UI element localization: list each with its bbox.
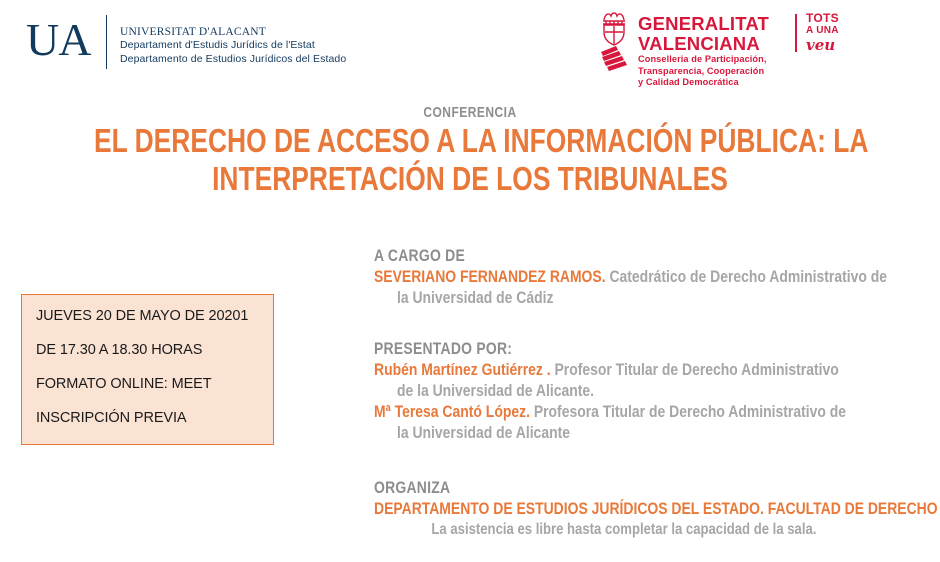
presenter-2-affiliation: la Universidad de Alicante	[374, 422, 930, 443]
page-title-line-2: INTERPRETACIÓN DE LOS TRIBUNALES	[94, 160, 846, 198]
main-speaker-role: Catedrático de Derecho Administrativo de	[606, 267, 887, 286]
conselleria-line1: Conselleria de Participación,	[638, 54, 767, 66]
spacer-after-a-cargo	[374, 308, 930, 338]
ua-logo-divider	[106, 15, 107, 69]
organizer-entity: DEPARTAMENTO DE ESTUDIOS JURÍDICOS DEL E…	[374, 498, 830, 519]
event-type-label: CONFERENCIA	[94, 103, 846, 122]
slogan-line3: veu	[806, 37, 839, 54]
poster-title-block: CONFERENCIA EL DERECHO DE ACCESO A LA IN…	[0, 103, 940, 198]
event-format: FORMATO ONLINE: MEET	[36, 376, 212, 392]
a-cargo-de-body: SEVERIANO FERNANDEZ RAMOS. Catedrático d…	[374, 266, 930, 308]
slogan-line1: TOTS	[806, 12, 839, 25]
presenter-2-name: Mª Teresa Cantó López.	[374, 402, 530, 421]
conselleria-line3: y Calidad Democrática	[638, 77, 767, 89]
presenter-1-role: Profesor Titular de Derecho Administrati…	[551, 360, 839, 379]
spacer-after-presentado	[374, 443, 930, 477]
presenter-2-role: Profesora Titular de Derecho Administrat…	[530, 402, 846, 421]
generalitat-valenciana-logo: GENERALITAT VALENCIANA TOTS A UNA veu Co…	[598, 10, 828, 80]
presenter-1-affiliation: de la Universidad de Alicante.	[374, 380, 930, 401]
generalitat-logo-divider	[795, 14, 797, 52]
event-details-box: JUEVES 20 DE MAYO DE 20201 DE 17.30 A 18…	[21, 294, 274, 445]
main-speaker-affiliation: la Universidad de Cádiz	[374, 287, 930, 308]
conselleria-line2: Transparencia, Cooperación	[638, 66, 767, 78]
presenter-entry-2: Mª Teresa Cantó López. Profesora Titular…	[374, 401, 930, 443]
main-speaker-name: SEVERIANO FERNANDEZ RAMOS.	[374, 267, 606, 286]
event-registration: INSCRIPCIÓN PREVIA	[36, 410, 186, 426]
page-title-line-1: EL DERECHO DE ACCESO A LA INFORMACIÓN PÚ…	[94, 122, 846, 160]
section-presentado-por: PRESENTADO POR: Rubén Martínez Gutiérrez…	[374, 338, 930, 443]
generalitat-wordmark-line2: VALENCIANA	[638, 34, 769, 54]
presenter-1-name: Rubén Martínez Gutiérrez .	[374, 360, 551, 379]
ua-department-valencian: Departament d'Estudis Jurídics de l'Esta…	[120, 39, 346, 53]
presentado-por-heading: PRESENTADO POR:	[374, 338, 830, 359]
generalitat-wordmark-line1: GENERALITAT	[638, 14, 769, 34]
ua-department-spanish: Departamento de Estudios Jurídicos del E…	[120, 53, 346, 67]
tots-a-una-veu-slogan: TOTS A UNA veu	[806, 12, 839, 54]
section-organiza: ORGANIZA DEPARTAMENTO DE ESTUDIOS JURÍDI…	[374, 477, 930, 540]
ua-logo: UA UNIVERSITAT D'ALACANT Departament d'E…	[26, 12, 356, 72]
speakers-and-organizer-section: A CARGO DE SEVERIANO FERNANDEZ RAMOS. Ca…	[374, 245, 930, 540]
event-time: DE 17.30 A 18.30 HORAS	[36, 342, 202, 358]
ua-logo-text: UNIVERSITAT D'ALACANT Departament d'Estu…	[120, 25, 346, 66]
generalitat-wordmark: GENERALITAT VALENCIANA	[638, 14, 769, 54]
presenter-entry-1: Rubén Martínez Gutiérrez . Profesor Titu…	[374, 359, 930, 401]
ua-institution-name: UNIVERSITAT D'ALACANT	[120, 25, 346, 39]
conselleria-subtitle: Conselleria de Participación, Transparen…	[638, 54, 767, 89]
ua-monogram: UA	[26, 14, 90, 66]
attendance-note: La asistencia es libre hasta completar l…	[374, 519, 830, 540]
section-a-cargo-de: A CARGO DE SEVERIANO FERNANDEZ RAMOS. Ca…	[374, 245, 930, 308]
a-cargo-de-heading: A CARGO DE	[374, 245, 830, 266]
generalitat-shield-icon	[598, 10, 630, 72]
event-date: JUEVES 20 DE MAYO DE 20201	[36, 308, 248, 324]
organiza-heading: ORGANIZA	[374, 477, 830, 498]
